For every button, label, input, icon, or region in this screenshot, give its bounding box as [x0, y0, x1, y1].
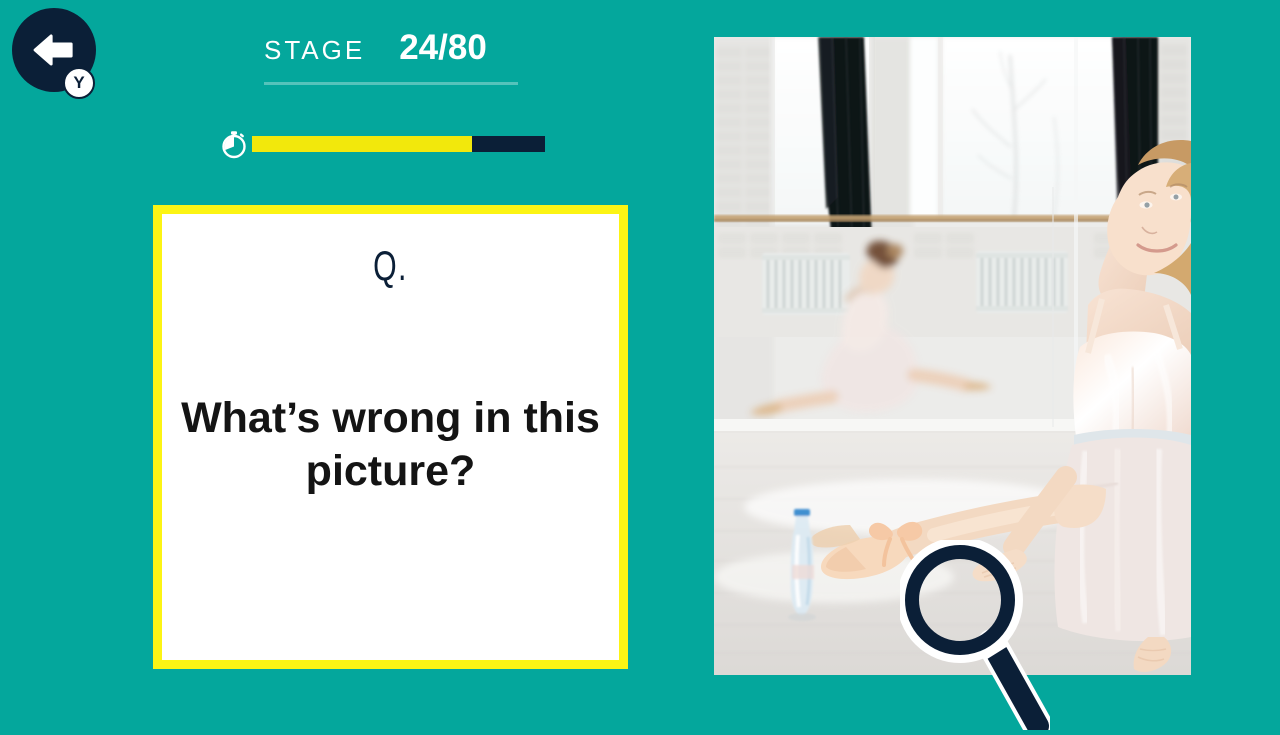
stage-divider: [264, 82, 518, 85]
question-marker: Q.: [226, 242, 555, 290]
back-button-y-badge[interactable]: Y: [63, 67, 95, 99]
stopwatch-icon: [218, 128, 250, 160]
y-badge-label: Y: [73, 73, 84, 93]
question-card: Q. What’s wrong in this picture?: [153, 205, 628, 669]
stage-label: STAGE: [264, 35, 365, 66]
stage-header: STAGE 24/80: [264, 28, 520, 85]
question-text: What’s wrong in this picture?: [162, 392, 619, 499]
ballet-studio-illustration: [714, 37, 1191, 675]
timer-fill: [252, 136, 472, 152]
timer-track: [252, 136, 545, 152]
timer-bar: [218, 128, 545, 160]
game-screen: Y STAGE 24/80 Q. What’s wrong in this pi…: [0, 0, 1280, 720]
back-arrow-icon: [31, 28, 75, 72]
puzzle-photo[interactable]: [714, 37, 1191, 675]
stage-value: 24/80: [399, 28, 487, 68]
